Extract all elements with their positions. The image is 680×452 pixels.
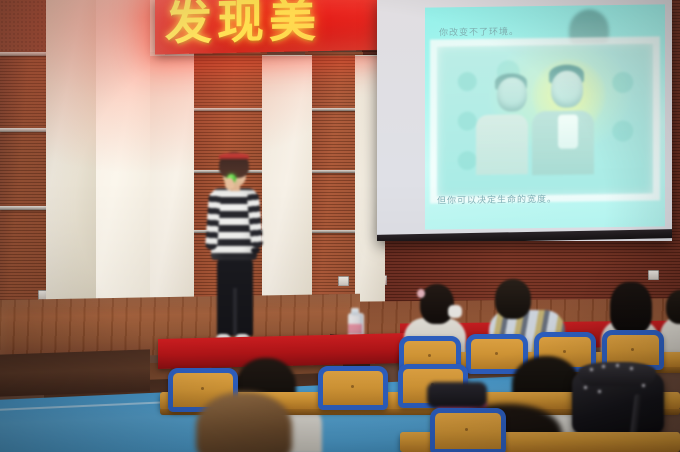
presenter-hair-band (219, 153, 249, 159)
presenter-trousers (217, 258, 253, 336)
audience-hair-tie (417, 289, 425, 298)
slide-photo (437, 42, 653, 197)
audience-head (610, 282, 652, 334)
banner-sheen (155, 0, 390, 54)
screen-bottom-bar (377, 229, 672, 241)
projection-screen: 你改变不了环境。 但你可以决定生命的宽度。 (377, 0, 672, 241)
bottle-label (348, 324, 362, 334)
audience-head (196, 392, 292, 452)
slide-caption-bottom: 但你可以决定生命的宽度。 (437, 192, 557, 207)
audience-head (420, 284, 454, 324)
stage-banner: 发现美 (155, 0, 390, 54)
audience-face-mask (448, 305, 462, 318)
chair-back (318, 366, 388, 410)
chair-back (430, 408, 506, 452)
black-handbag[interactable] (572, 372, 664, 434)
slide-caption-top: 你改变不了环境。 (439, 24, 519, 38)
presenter (205, 152, 265, 362)
marble-column-1 (46, 0, 98, 300)
marble-column-3 (150, 52, 194, 302)
wall-outlet-left (338, 276, 349, 286)
bottle-cap (351, 308, 359, 315)
auditorium-photo: 发现美 你改变不了环境。 但你可以决定生命的宽度。 (0, 0, 680, 452)
stage-front-face (0, 349, 150, 396)
audience-head (495, 279, 531, 319)
pink-bag-top (427, 382, 487, 408)
marble-column-2 (96, 0, 158, 300)
chair[interactable] (318, 366, 388, 410)
chair[interactable] (430, 408, 506, 452)
wall-outlet-far-right (648, 270, 659, 280)
projected-slide: 你改变不了环境。 但你可以决定生命的宽度。 (425, 4, 665, 229)
presenter-wristband (251, 248, 260, 253)
slide-photo-frame (430, 36, 660, 203)
marble-column-4 (262, 55, 312, 305)
